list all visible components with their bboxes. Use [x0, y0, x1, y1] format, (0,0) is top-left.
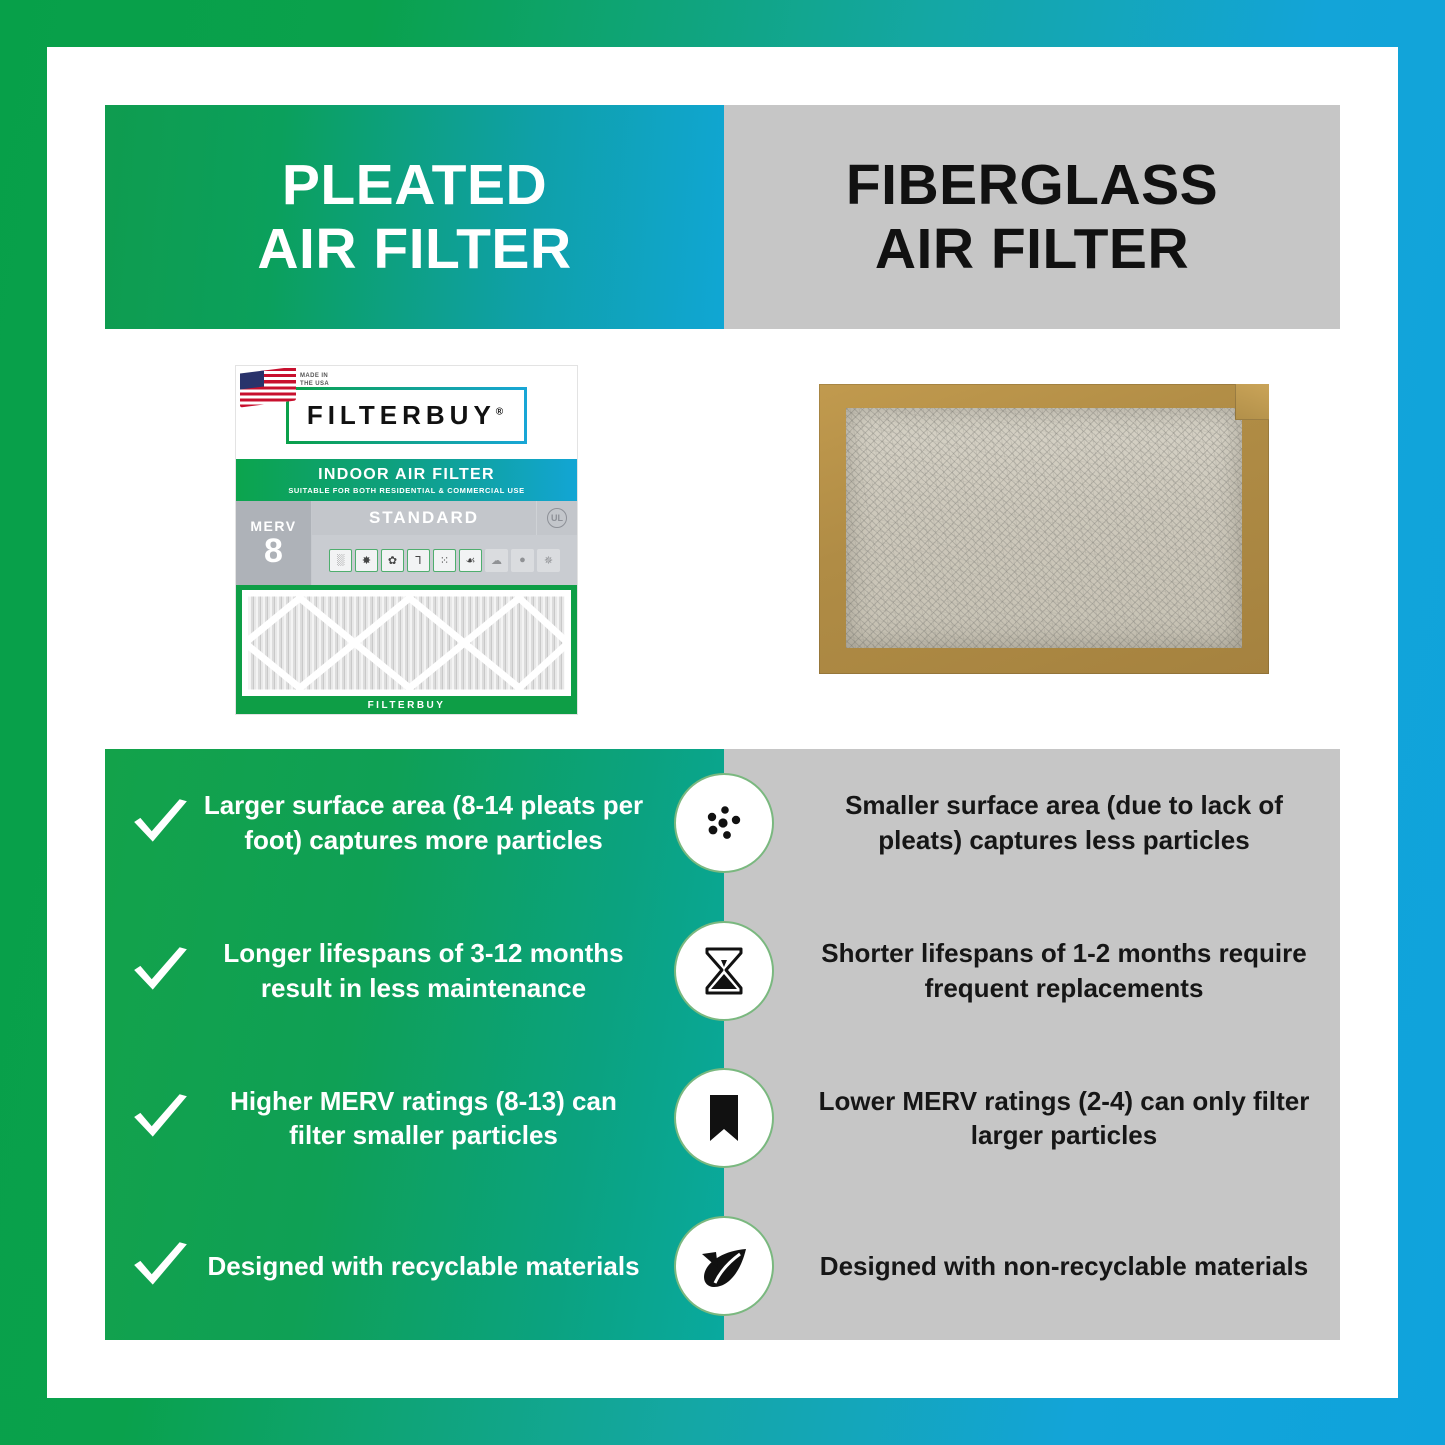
row-right-cell: Lower MERV ratings (2-4) can only filter…: [724, 1045, 1340, 1193]
comparison-table: Larger surface area (8-14 pleats per foo…: [105, 749, 1340, 1340]
fiberglass-filter-image: [819, 384, 1269, 674]
pleated-media-artwork: FILTERBUY: [236, 585, 577, 715]
table-row: Longer lifespans of 3-12 months result i…: [105, 897, 1340, 1045]
row-left-cell: Designed with recyclable materials: [105, 1192, 724, 1340]
row-left-text: Longer lifespans of 3-12 months result i…: [201, 936, 646, 1006]
table-row: Designed with recyclable materials Desig…: [105, 1192, 1340, 1340]
ul-certification: UL: [537, 501, 577, 535]
lint-icon: ⁙: [433, 549, 456, 572]
fiberglass-header-line1: FIBERGLASS: [846, 153, 1218, 217]
pleated-header-line2: AIR FILTER: [257, 217, 571, 281]
spec-right-column: STANDARD UL ░ ✸ ✿ ⅂ ⁙ ☙ ☁: [312, 501, 577, 585]
brand-name: FILTERBUY: [307, 400, 496, 430]
pollen-icon: ✿: [381, 549, 404, 572]
box-footer-brand: FILTERBUY: [236, 694, 577, 715]
fiberglass-header: FIBERGLASS AIR FILTER: [724, 105, 1340, 329]
dust-lint-icon: ░: [329, 549, 352, 572]
usa-flag-icon: [240, 367, 296, 408]
capability-icon-row: ░ ✸ ✿ ⅂ ⁙ ☙ ☁ ● ✵: [312, 535, 577, 585]
row-left-cell: Longer lifespans of 3-12 months result i…: [105, 897, 724, 1045]
row-right-text: Lower MERV ratings (2-4) can only filter…: [814, 1084, 1314, 1154]
band-main-label: INDOOR AIR FILTER: [318, 466, 495, 484]
fiberglass-product-cell: [723, 329, 1341, 749]
table-row: Larger surface area (8-14 pleats per foo…: [105, 749, 1340, 897]
row-left-text: Larger surface area (8-14 pleats per foo…: [201, 788, 646, 858]
row-right-cell: Designed with non-recyclable materials: [724, 1192, 1340, 1340]
pleated-header-line1: PLEATED: [257, 153, 571, 217]
particles-icon: [674, 773, 774, 873]
header-row: PLEATED AIR FILTER FIBERGLASS AIR FILTER: [105, 105, 1340, 329]
row-left-text: Designed with recyclable materials: [201, 1249, 646, 1284]
checkmark-icon: [129, 797, 191, 849]
checkmark-icon: [129, 1240, 191, 1292]
row-left-cell: Higher MERV ratings (8-13) can filter sm…: [105, 1045, 724, 1193]
box-top-panel: MADE IN THE USA FILTERBUY®: [236, 366, 577, 459]
fiberglass-header-title: FIBERGLASS AIR FILTER: [846, 153, 1218, 282]
pleated-product-cell: MADE IN THE USA FILTERBUY® INDOOR AIR FI…: [105, 329, 723, 749]
grade-label: STANDARD: [312, 501, 537, 535]
bacteria-icon: ●: [511, 549, 534, 572]
comparison-rows: Larger surface area (8-14 pleats per foo…: [105, 749, 1340, 1340]
support-lattice: [242, 590, 571, 696]
row-right-text: Designed with non-recyclable materials: [814, 1249, 1314, 1284]
leaf-icon: [674, 1216, 774, 1316]
brand-trademark-icon: ®: [496, 406, 508, 417]
smoke-icon: ☁: [485, 549, 508, 572]
ul-mark-icon: UL: [547, 508, 567, 528]
table-row: Higher MERV ratings (8-13) can filter sm…: [105, 1045, 1340, 1193]
row-left-text: Higher MERV ratings (8-13) can filter sm…: [201, 1084, 646, 1154]
fiberglass-header-line2: AIR FILTER: [846, 217, 1218, 281]
box-spec-panel: MERV 8 STANDARD UL ░ ✸ ✿: [236, 501, 577, 585]
brand-logo-text: FILTERBUY®: [307, 400, 508, 431]
made-in-line2: THE USA: [300, 381, 329, 389]
product-image-row: MADE IN THE USA FILTERBUY® INDOOR AIR FI…: [105, 329, 1340, 749]
merv-badge: MERV 8: [236, 501, 312, 585]
merv-value: 8: [264, 534, 283, 568]
virus-icon: ✵: [537, 549, 560, 572]
fiberglass-media-texture: [846, 408, 1242, 648]
row-right-cell: Smaller surface area (due to lack of ple…: [724, 749, 1340, 897]
made-in-usa-label: MADE IN THE USA: [300, 373, 329, 388]
row-right-text: Shorter lifespans of 1-2 months require …: [814, 936, 1314, 1006]
checkmark-icon: [129, 945, 191, 997]
checkmark-icon: [129, 1092, 191, 1144]
pet-dander-icon: ☙: [459, 549, 482, 572]
row-right-cell: Shorter lifespans of 1-2 months require …: [724, 897, 1340, 1045]
frame-corner-overlap: [1235, 384, 1269, 420]
pleated-header-title: PLEATED AIR FILTER: [257, 153, 571, 282]
grade-row: STANDARD UL: [312, 501, 577, 535]
row-right-text: Smaller surface area (due to lack of ple…: [814, 788, 1314, 858]
band-sub-label: SUITABLE FOR BOTH RESIDENTIAL & COMMERCI…: [288, 486, 524, 495]
infographic-canvas: PLEATED AIR FILTER FIBERGLASS AIR FILTER…: [0, 0, 1445, 1445]
row-left-cell: Larger surface area (8-14 pleats per foo…: [105, 749, 724, 897]
filterbuy-box-image: MADE IN THE USA FILTERBUY® INDOOR AIR FI…: [235, 365, 578, 715]
hourglass-icon: [674, 921, 774, 1021]
indoor-air-filter-band: INDOOR AIR FILTER SUITABLE FOR BOTH RESI…: [236, 459, 577, 501]
brand-logo-frame: FILTERBUY®: [286, 387, 527, 444]
made-in-line1: MADE IN: [300, 373, 329, 381]
mold-spores-icon: ⅂: [407, 549, 430, 572]
pleated-header: PLEATED AIR FILTER: [105, 105, 724, 329]
bookmark-ribbon-icon: [674, 1068, 774, 1168]
dust-mite-icon: ✸: [355, 549, 378, 572]
